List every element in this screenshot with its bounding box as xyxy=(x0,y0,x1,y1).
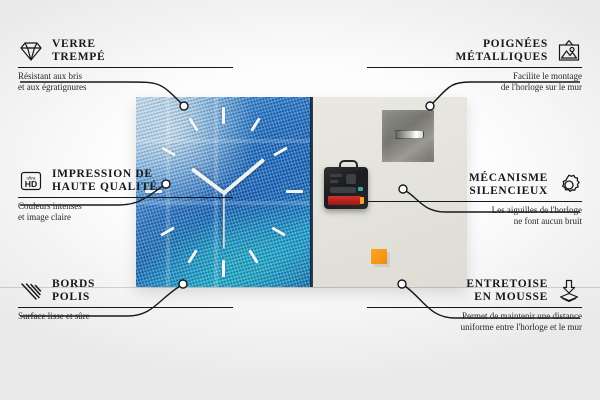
feature-title-line1: POIGNÉES xyxy=(456,38,548,51)
clock-tick xyxy=(286,190,303,193)
ultra-hd-icon: ultra HD xyxy=(18,168,44,194)
mechanism-hanging-loop xyxy=(339,160,358,171)
feature-title-line1: MÉCANISME xyxy=(469,172,548,185)
feature-title-line2: EN MOUSSE xyxy=(466,291,548,304)
feature-title-line2: TREMPÉ xyxy=(52,51,105,64)
clock-tick xyxy=(188,117,198,131)
battery xyxy=(328,196,361,205)
feature-divider xyxy=(367,67,582,68)
feature-title-line2: MÉTALLIQUES xyxy=(456,51,548,64)
clock-tick xyxy=(222,107,225,124)
feature-divider xyxy=(367,201,582,202)
feature-divider xyxy=(367,307,582,308)
feature-header: POIGNÉES MÉTALLIQUES xyxy=(367,38,582,64)
gear-icon xyxy=(556,172,582,198)
feature-title-line1: ENTRETOISE xyxy=(466,278,548,291)
diamond-icon xyxy=(18,38,44,64)
feature-callout-impression-haute-qualite: ultra HD IMPRESSION DE HAUTE QUALITÉ Cou… xyxy=(18,168,233,223)
feature-callout-verre-trempe: VERRE TREMPÉ Résistant aux bris et aux é… xyxy=(18,38,233,93)
feature-header: VERRE TREMPÉ xyxy=(18,38,233,64)
feature-header: BORDS POLIS xyxy=(18,278,233,304)
clock-tick xyxy=(250,117,260,131)
feature-title-line2: HAUTE QUALITÉ xyxy=(52,181,158,194)
feature-divider xyxy=(18,307,233,308)
foam-spacer-icon xyxy=(556,278,582,304)
feature-divider xyxy=(18,67,233,68)
clock-tick xyxy=(271,226,285,236)
clock-tick xyxy=(222,260,225,277)
feature-desc-line2: et aux égratignures xyxy=(18,82,233,93)
feature-divider xyxy=(18,197,233,198)
feature-desc-line2: ne font aucun bruit xyxy=(367,216,582,227)
clock-tick xyxy=(187,249,197,263)
svg-text:HD: HD xyxy=(25,179,37,189)
feature-callout-poignees-metalliques: POIGNÉES MÉTALLIQUES Facilite le montage… xyxy=(367,38,582,93)
clock-tick xyxy=(248,249,258,263)
keyhole-slot-icon xyxy=(394,130,424,139)
feature-desc-line1: Les aiguilles de l'horloge xyxy=(367,205,582,216)
feature-header: ultra HD IMPRESSION DE HAUTE QUALITÉ xyxy=(18,168,233,194)
metal-hanger-plate xyxy=(382,110,434,162)
feature-desc-line2: de l'horloge sur le mur xyxy=(367,82,582,93)
feature-desc-line1: Résistant aux bris xyxy=(18,71,233,82)
feature-desc-line1: Permet de maintenir une distance xyxy=(367,311,582,322)
picture-hanger-icon xyxy=(556,38,582,64)
feature-desc-line2: et image claire xyxy=(18,212,233,223)
feature-title-line1: VERRE xyxy=(52,38,105,51)
clock-tick xyxy=(273,146,287,156)
feature-desc-line2: uniforme entre l'horloge et le mur xyxy=(367,322,582,333)
feature-title-line1: BORDS xyxy=(52,278,95,291)
foam-spacer xyxy=(371,249,387,264)
feature-callout-bords-polis: BORDS POLIS Surface lisse et sûre xyxy=(18,278,233,322)
feature-title-line1: IMPRESSION DE xyxy=(52,168,158,181)
feature-desc-line1: Facilite le montage xyxy=(367,71,582,82)
feature-header: MÉCANISME SILENCIEUX xyxy=(367,172,582,198)
feature-title-line2: POLIS xyxy=(52,291,95,304)
feature-header: ENTRETOISE EN MOUSSE xyxy=(367,278,582,304)
feature-desc-line1: Couleurs intenses xyxy=(18,201,233,212)
polished-edge-icon xyxy=(18,278,44,304)
feature-title-line2: SILENCIEUX xyxy=(469,185,548,198)
feature-desc-line1: Surface lisse et sûre xyxy=(18,311,233,322)
feature-callout-mecanisme-silencieux: MÉCANISME SILENCIEUX Les aiguilles de l'… xyxy=(367,172,582,227)
feature-callout-entretoise-en-mousse: ENTRETOISE EN MOUSSE Permet de maintenir… xyxy=(367,278,582,333)
clock-mechanism xyxy=(324,167,368,209)
